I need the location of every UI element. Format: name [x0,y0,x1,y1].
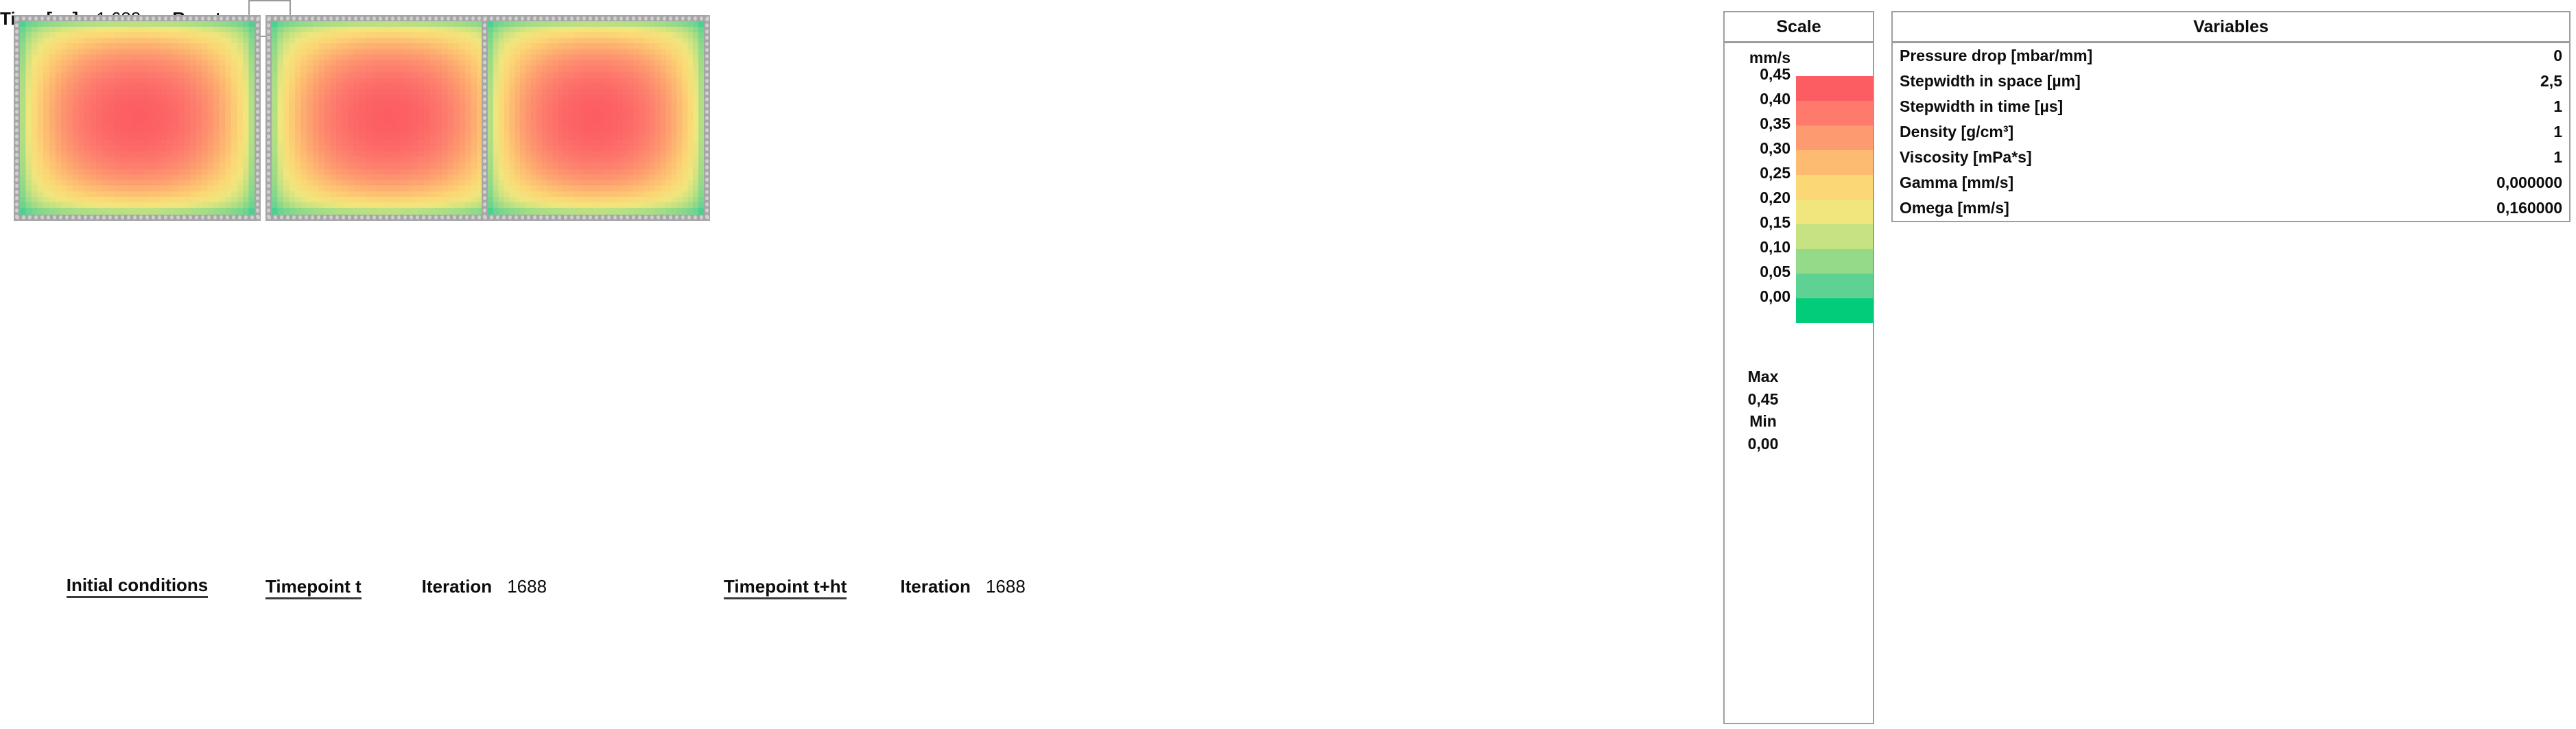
boundary-zero-cell [121,16,124,21]
boundary-zero-cell [403,215,407,219]
iteration-label-t: Iteration [422,576,493,597]
boundary-zero-cell [90,215,93,219]
boundary-zero-cell [428,215,432,219]
boundary-zero-cell [527,215,530,219]
boundary-zero-cell [570,16,574,21]
boundary-zero-cell [483,215,486,219]
boundary-zero-cell [521,215,524,219]
boundary-zero-cell [226,16,229,21]
boundary-zero-cell [256,23,259,27]
boundary-zero-cell [15,97,19,101]
heatmap-canvas-timepoint-t [272,21,506,215]
variable-value: 0,160000 [2496,199,2562,217]
boundary-zero-cell [15,23,19,27]
boundary-zero-cell [354,16,357,21]
boundary-zero-cell [601,16,604,21]
boundary-zero-cell [483,17,486,21]
boundary-zero-cell [705,141,709,145]
heatmap-panel-initial [14,15,261,221]
boundary-zero-cell [705,110,709,114]
scale-color-swatch [1796,150,1873,175]
boundary-zero-cell [15,36,19,40]
boundary-zero-cell [410,16,413,21]
boundary-zero-cell [15,128,19,132]
boundary-zero-cell [508,215,512,219]
boundary-zero-cell [102,215,106,219]
variable-name: Stepwidth in space [µm] [1900,72,2081,91]
boundary-zero-cell [15,153,19,157]
boundary-zero-cell [483,128,486,132]
boundary-zero-cell [515,215,518,219]
boundary-zero-cell [267,153,270,157]
boundary-zero-cell [705,60,709,64]
boundary-zero-cell [232,16,235,21]
boundary-zero-cell [256,159,259,163]
scale-row: 0,35 [1725,126,1873,150]
boundary-zero-cell [267,178,270,182]
boundary-zero-cell [115,16,118,21]
boundary-zero-cell [305,16,308,21]
boundary-zero-cell [477,16,481,21]
boundary-zero-cell [15,122,19,126]
boundary-zero-cell [335,215,339,219]
boundary-zero-cell [256,196,259,200]
boundary-zero-cell [152,215,155,219]
boundary-zero-cell [15,147,19,151]
boundary-zero-cell [440,16,444,21]
panel-title-timepoint-t-plus-ht: Timepoint t+ht [724,577,847,599]
boundary-zero-cell [705,159,709,163]
iteration-value-tht: 1688 [986,576,1026,597]
boundary-zero-cell [705,73,709,77]
boundary-zero-cell [15,171,19,176]
boundary-zero-cell [669,215,672,219]
boundary-zero-cell [256,54,259,58]
boundary-zero-cell [397,215,401,219]
boundary-zero-cell [256,110,259,114]
boundary-zero-cell [286,16,289,21]
boundary-zero-cell [700,16,703,21]
boundary-zero-cell [15,110,19,114]
boundary-zero-cell [121,215,124,219]
boundary-zero-cell [15,116,19,120]
boundary-zero-cell [22,16,25,21]
boundary-zero-cell [453,215,456,219]
boundary-zero-cell [53,16,56,21]
boundary-zero-cell [483,23,486,27]
boundary-zero-cell [348,215,351,219]
boundary-zero-cell [483,171,486,176]
boundary-zero-cell [182,215,186,219]
variable-row: Stepwidth in space [µm]2,5 [1893,69,2569,94]
boundary-zero-cell [292,215,296,219]
heatmap-canvas-initial [20,21,255,215]
boundary-zero-cell [342,16,345,21]
boundary-zero-cell [422,16,425,21]
boundary-zero-cell [256,17,259,21]
boundary-zero-cell [15,165,19,169]
boundary-zero-cell [483,79,486,83]
boundary-zero-cell [490,215,493,219]
boundary-zero-cell [434,215,438,219]
boundary-zero-cell [267,79,270,83]
boundary-zero-cell [267,36,270,40]
boundary-zero-cell [632,215,635,219]
variable-row: Density [g/cm³]1 [1893,119,2569,145]
scale-row: 0,30 [1725,150,1873,175]
boundary-zero-cell [483,104,486,108]
boundary-zero-cell [483,159,486,163]
boundary-zero-cell [84,16,87,21]
boundary-zero-cell [619,215,623,219]
boundary-zero-cell [244,16,248,21]
boundary-zero-cell [447,16,450,21]
variable-row: Stepwidth in time [µs]1 [1893,94,2569,119]
boundary-zero-cell [366,215,370,219]
boundary-zero-cell [483,208,486,213]
boundary-zero-cell [650,16,654,21]
iteration-label-tht: Iteration [900,576,971,597]
boundary-zero-cell [416,215,419,219]
boundary-zero-cell [552,215,555,219]
caption-timepoint-t-plus-ht: Timepoint t+ht Iteration 1688 [724,576,1204,599]
boundary-zero-cell [607,215,611,219]
scale-tick-label: 0,00 [1760,287,1791,306]
boundary-zero-cell [256,116,259,120]
boundary-zero-cell [329,16,333,21]
variable-row: Omega [mm/s]0,160000 [1893,195,2569,221]
boundary-zero-cell [280,215,283,219]
boundary-zero-cell [681,16,685,21]
boundary-zero-cell [96,16,99,21]
scale-color-swatch [1796,200,1873,224]
boundary-zero-cell [335,16,339,21]
boundary-zero-cell [675,16,678,21]
boundary-zero-cell [256,165,259,169]
boundary-zero-cell [705,196,709,200]
boundary-zero-cell [490,16,493,21]
boundary-zero-cell [256,67,259,71]
boundary-zero-cell [59,16,62,21]
boundary-zero-cell [705,85,709,89]
boundary-zero-cell [527,16,530,21]
boundary-zero-cell [626,16,629,21]
boundary-zero-cell [706,16,709,21]
variables-title: Variables [1893,12,2569,43]
boundary-zero-cell [342,215,345,219]
boundary-zero-cell [705,190,709,194]
boundary-zero-cell [687,16,691,21]
boundary-zero-cell [483,178,486,182]
boundary-zero-cell [669,16,672,21]
boundary-zero-cell [595,16,598,21]
caption-initial-conditions: Initial conditions [14,576,261,598]
boundary-zero-cell [416,16,419,21]
heatmap-panel-timepoint-t [265,15,512,221]
boundary-zero-cell [459,215,462,219]
boundary-zero-cell [564,16,567,21]
boundary-zero-cell [681,215,685,219]
boundary-zero-cell [576,16,580,21]
boundary-zero-cell [705,17,709,21]
variable-value: 0 [2553,47,2562,65]
boundary-zero-cell [483,29,486,34]
boundary-zero-cell [15,104,19,108]
boundary-zero-cell [274,16,277,21]
boundary-zero-cell [15,134,19,139]
boundary-zero-cell [705,178,709,182]
boundary-zero-cell [705,79,709,83]
boundary-zero-cell [78,215,81,219]
boundary-zero-cell [570,215,574,219]
boundary-zero-cell [502,215,506,219]
boundary-zero-cell [403,16,407,21]
boundary-zero-cell [533,16,536,21]
boundary-zero-cell [484,215,487,219]
boundary-zero-cell [267,104,270,108]
boundary-zero-cell [108,215,112,219]
scale-color-swatch [1796,224,1873,249]
boundary-zero-cell [348,16,351,21]
boundary-zero-cell [360,215,364,219]
boundary-zero-cell [471,215,475,219]
variable-value: 1 [2553,97,2562,116]
scale-tick-label: 0,15 [1760,213,1791,232]
boundary-zero-cell [483,116,486,120]
boundary-zero-cell [267,54,270,58]
boundary-zero-cell [705,36,709,40]
boundary-zero-cell [521,16,524,21]
boundary-zero-cell [267,147,270,151]
scale-color-swatch [1796,298,1873,323]
boundary-zero-cell [127,215,130,219]
boundary-zero-cell [15,190,19,194]
boundary-zero-cell [40,215,44,219]
boundary-zero-cell [220,215,223,219]
boundary-zero-cell [483,97,486,101]
scale-tick-label: 0,20 [1760,189,1791,207]
scale-tick-label: 0,25 [1760,164,1791,182]
boundary-zero-cell [329,215,333,219]
boundary-zero-cell [705,48,709,52]
boundary-zero-cell [16,16,19,21]
boundary-zero-cell [267,116,270,120]
boundary-zero-cell [298,16,302,21]
boundary-zero-cell [533,215,536,219]
variable-value: 0,000000 [2496,174,2562,192]
boundary-zero-cell [232,215,235,219]
boundary-zero-cell [15,215,19,219]
boundary-zero-cell [440,215,444,219]
boundary-zero-cell [238,215,241,219]
boundary-zero-cell [705,116,709,120]
boundary-zero-cell [483,60,486,64]
scale-row: 0,40 [1725,101,1873,126]
boundary-zero-cell [189,16,192,21]
boundary-zero-cell [323,215,327,219]
variable-name: Stepwidth in time [µs] [1900,97,2063,116]
boundary-zero-cell [256,190,259,194]
boundary-zero-cell [15,196,19,200]
boundary-zero-cell [705,165,709,169]
boundary-zero-cell [256,104,259,108]
boundary-zero-cell [40,16,44,21]
variable-row: Viscosity [mPa*s]1 [1893,145,2569,170]
boundary-zero-cell [638,16,641,21]
boundary-zero-cell [317,16,320,21]
boundary-zero-cell [15,85,19,89]
boundary-zero-cell [477,215,481,219]
scale-color-swatch [1796,126,1873,150]
boundary-zero-cell [164,215,167,219]
boundary-zero-cell [267,159,270,163]
boundary-zero-cell [182,16,186,21]
boundary-zero-cell [483,54,486,58]
boundary-zero-cell [657,215,660,219]
boundary-zero-cell [582,16,586,21]
boundary-zero-cell [176,215,180,219]
boundary-zero-cell [170,215,174,219]
boundary-zero-cell [644,215,648,219]
boundary-zero-cell [96,215,99,219]
variables-card: Variables Pressure drop [mbar/mm]0Stepwi… [1891,11,2571,222]
boundary-zero-cell [447,215,450,219]
boundary-zero-cell [189,215,192,219]
boundary-zero-cell [385,16,388,21]
boundary-zero-cell [459,16,462,21]
variable-value: 2,5 [2540,72,2562,91]
boundary-zero-cell [256,134,259,139]
boundary-zero-cell [256,202,259,206]
boundary-zero-cell [15,67,19,71]
boundary-zero-cell [164,16,167,21]
boundary-zero-cell [484,16,487,21]
boundary-zero-cell [607,16,611,21]
boundary-zero-cell [552,16,555,21]
boundary-zero-cell [267,184,270,188]
boundary-zero-cell [471,16,475,21]
boundary-zero-cell [78,16,81,21]
boundary-zero-cell [256,178,259,182]
boundary-zero-cell [256,73,259,77]
boundary-zero-cell [453,16,456,21]
boundary-zero-cell [15,79,19,83]
scale-row: 0,10 [1725,249,1873,274]
boundary-zero-cell [483,91,486,95]
boundary-zero-cell [595,215,598,219]
boundary-zero-cell [558,215,561,219]
variable-name: Viscosity [mPa*s] [1900,148,2032,167]
boundary-zero-cell [220,16,223,21]
boundary-zero-cell [619,16,623,21]
boundary-zero-cell [15,54,19,58]
boundary-zero-cell [360,16,364,21]
boundary-zero-cell [201,215,204,219]
boundary-zero-cell [280,16,283,21]
boundary-zero-cell [705,215,709,219]
boundary-zero-cell [267,67,270,71]
scale-min-value: 0,00 [1725,433,1873,455]
scale-min-label: Min [1725,410,1873,433]
boundary-zero-cell [256,184,259,188]
boundary-zero-cell [483,153,486,157]
boundary-zero-cell [47,16,50,21]
boundary-zero-cell [483,48,486,52]
boundary-zero-cell [267,17,270,21]
boundary-zero-cell [694,215,697,219]
boundary-zero-cell [213,215,217,219]
boundary-zero-cell [675,215,678,219]
boundary-zero-cell [582,215,586,219]
boundary-zero-cell [256,42,259,46]
boundary-zero-cell [256,122,259,126]
scale-tick-label: 0,10 [1760,238,1791,256]
boundary-zero-cell [705,67,709,71]
boundary-zero-cell [267,208,270,213]
boundary-zero-cell [267,141,270,145]
scale-unit-label: mm/s [1749,49,1791,67]
boundary-zero-cell [705,171,709,176]
variable-row: Gamma [mm/s]0,000000 [1893,170,2569,195]
boundary-zero-cell [705,134,709,139]
scale-tick-label: 0,30 [1760,139,1791,158]
boundary-zero-cell [613,215,617,219]
scale-row: 0,15 [1725,224,1873,249]
boundary-zero-cell [434,16,438,21]
boundary-zero-cell [508,16,512,21]
boundary-zero-cell [133,16,137,21]
boundary-zero-cell [694,16,697,21]
scale-tick-label: 0,05 [1760,263,1791,281]
variable-name: Pressure drop [mbar/mm] [1900,47,2092,65]
boundary-zero-cell [292,16,296,21]
boundary-zero-cell [465,16,469,21]
boundary-zero-cell [16,215,19,219]
boundary-zero-cell [379,215,382,219]
boundary-zero-cell [663,16,666,21]
boundary-zero-cell [15,202,19,206]
scale-tick-label: 0,45 [1760,65,1791,84]
iteration-value-t: 1688 [507,576,547,597]
boundary-zero-cell [483,141,486,145]
heatmap-image-timepoint-t-plus-ht [488,21,704,215]
boundary-zero-cell [256,48,259,52]
scale-color-swatch [1796,274,1873,298]
scale-title: Scale [1725,12,1873,43]
boundary-zero-cell [483,165,486,169]
boundary-zero-cell [657,16,660,21]
boundary-zero-cell [483,190,486,194]
boundary-zero-cell [90,16,93,21]
boundary-zero-cell [53,215,56,219]
boundary-zero-cell [15,48,19,52]
boundary-zero-cell [127,16,130,21]
boundary-zero-cell [705,147,709,151]
variable-row: Pressure drop [mbar/mm]0 [1893,43,2569,69]
boundary-zero-cell [576,215,580,219]
boundary-zero-cell [145,16,149,21]
boundary-zero-cell [84,215,87,219]
boundary-zero-cell [108,16,112,21]
boundary-zero-cell [15,17,19,21]
boundary-zero-cell [256,97,259,101]
boundary-zero-cell [705,97,709,101]
boundary-zero-cell [539,215,543,219]
boundary-zero-cell [483,184,486,188]
boundary-zero-cell [201,16,204,21]
scale-max-value: 0,45 [1725,388,1873,411]
boundary-zero-cell [71,16,75,21]
